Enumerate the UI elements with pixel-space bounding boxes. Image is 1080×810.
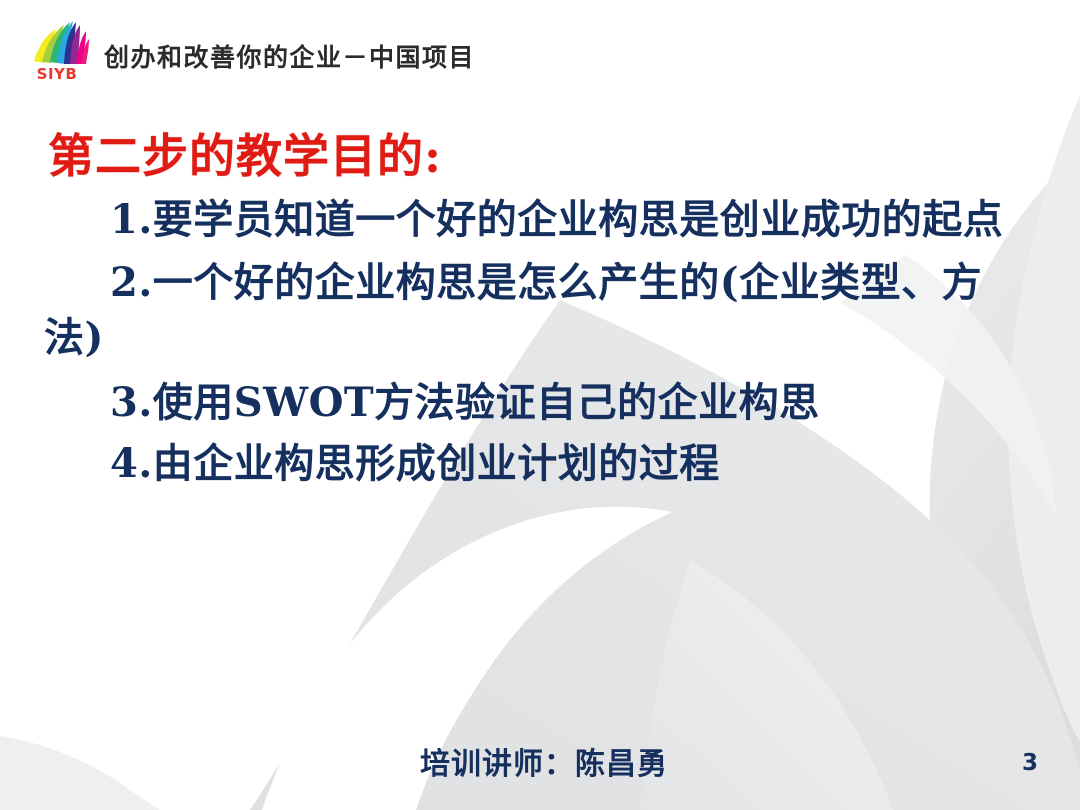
bullet-item-1: 1.要学员知道一个好的企业构思是创业成功的起点 [0, 192, 1080, 247]
presenter-name: 培训讲师：陈昌勇 [420, 750, 668, 780]
slide-header: SIYB 创办和改善你的企业－中国项目 [0, 0, 1080, 100]
header-title: 创办和改善你的企业－中国项目 [104, 31, 475, 70]
page-number: 3 [1022, 752, 1038, 775]
bullet-item-4: 4.由企业构思形成创业计划的过程 [0, 436, 1080, 491]
bullet-item-3: 3.使用SWOT方法验证自己的企业构思 [0, 375, 1080, 430]
slide-footer: 培训讲师：陈昌勇 3 [0, 724, 1080, 810]
siyb-flame-icon: SIYB [24, 17, 92, 83]
slide-body: 第二步的教学目的: 1.要学员知道一个好的企业构思是创业成功的起点 2.一个好的… [0, 128, 1080, 493]
bullet-item-2: 2.一个好的企业构思是怎么产生的(企业类型、方法) [0, 255, 1080, 365]
presentation-slide: SIYB 创办和改善你的企业－中国项目 第二步的教学目的: 1.要学员知道一个好… [0, 0, 1080, 810]
siyb-logo: SIYB [24, 17, 92, 83]
siyb-wordmark: SIYB [37, 65, 78, 83]
page-title: 第二步的教学目的: [48, 128, 1080, 186]
